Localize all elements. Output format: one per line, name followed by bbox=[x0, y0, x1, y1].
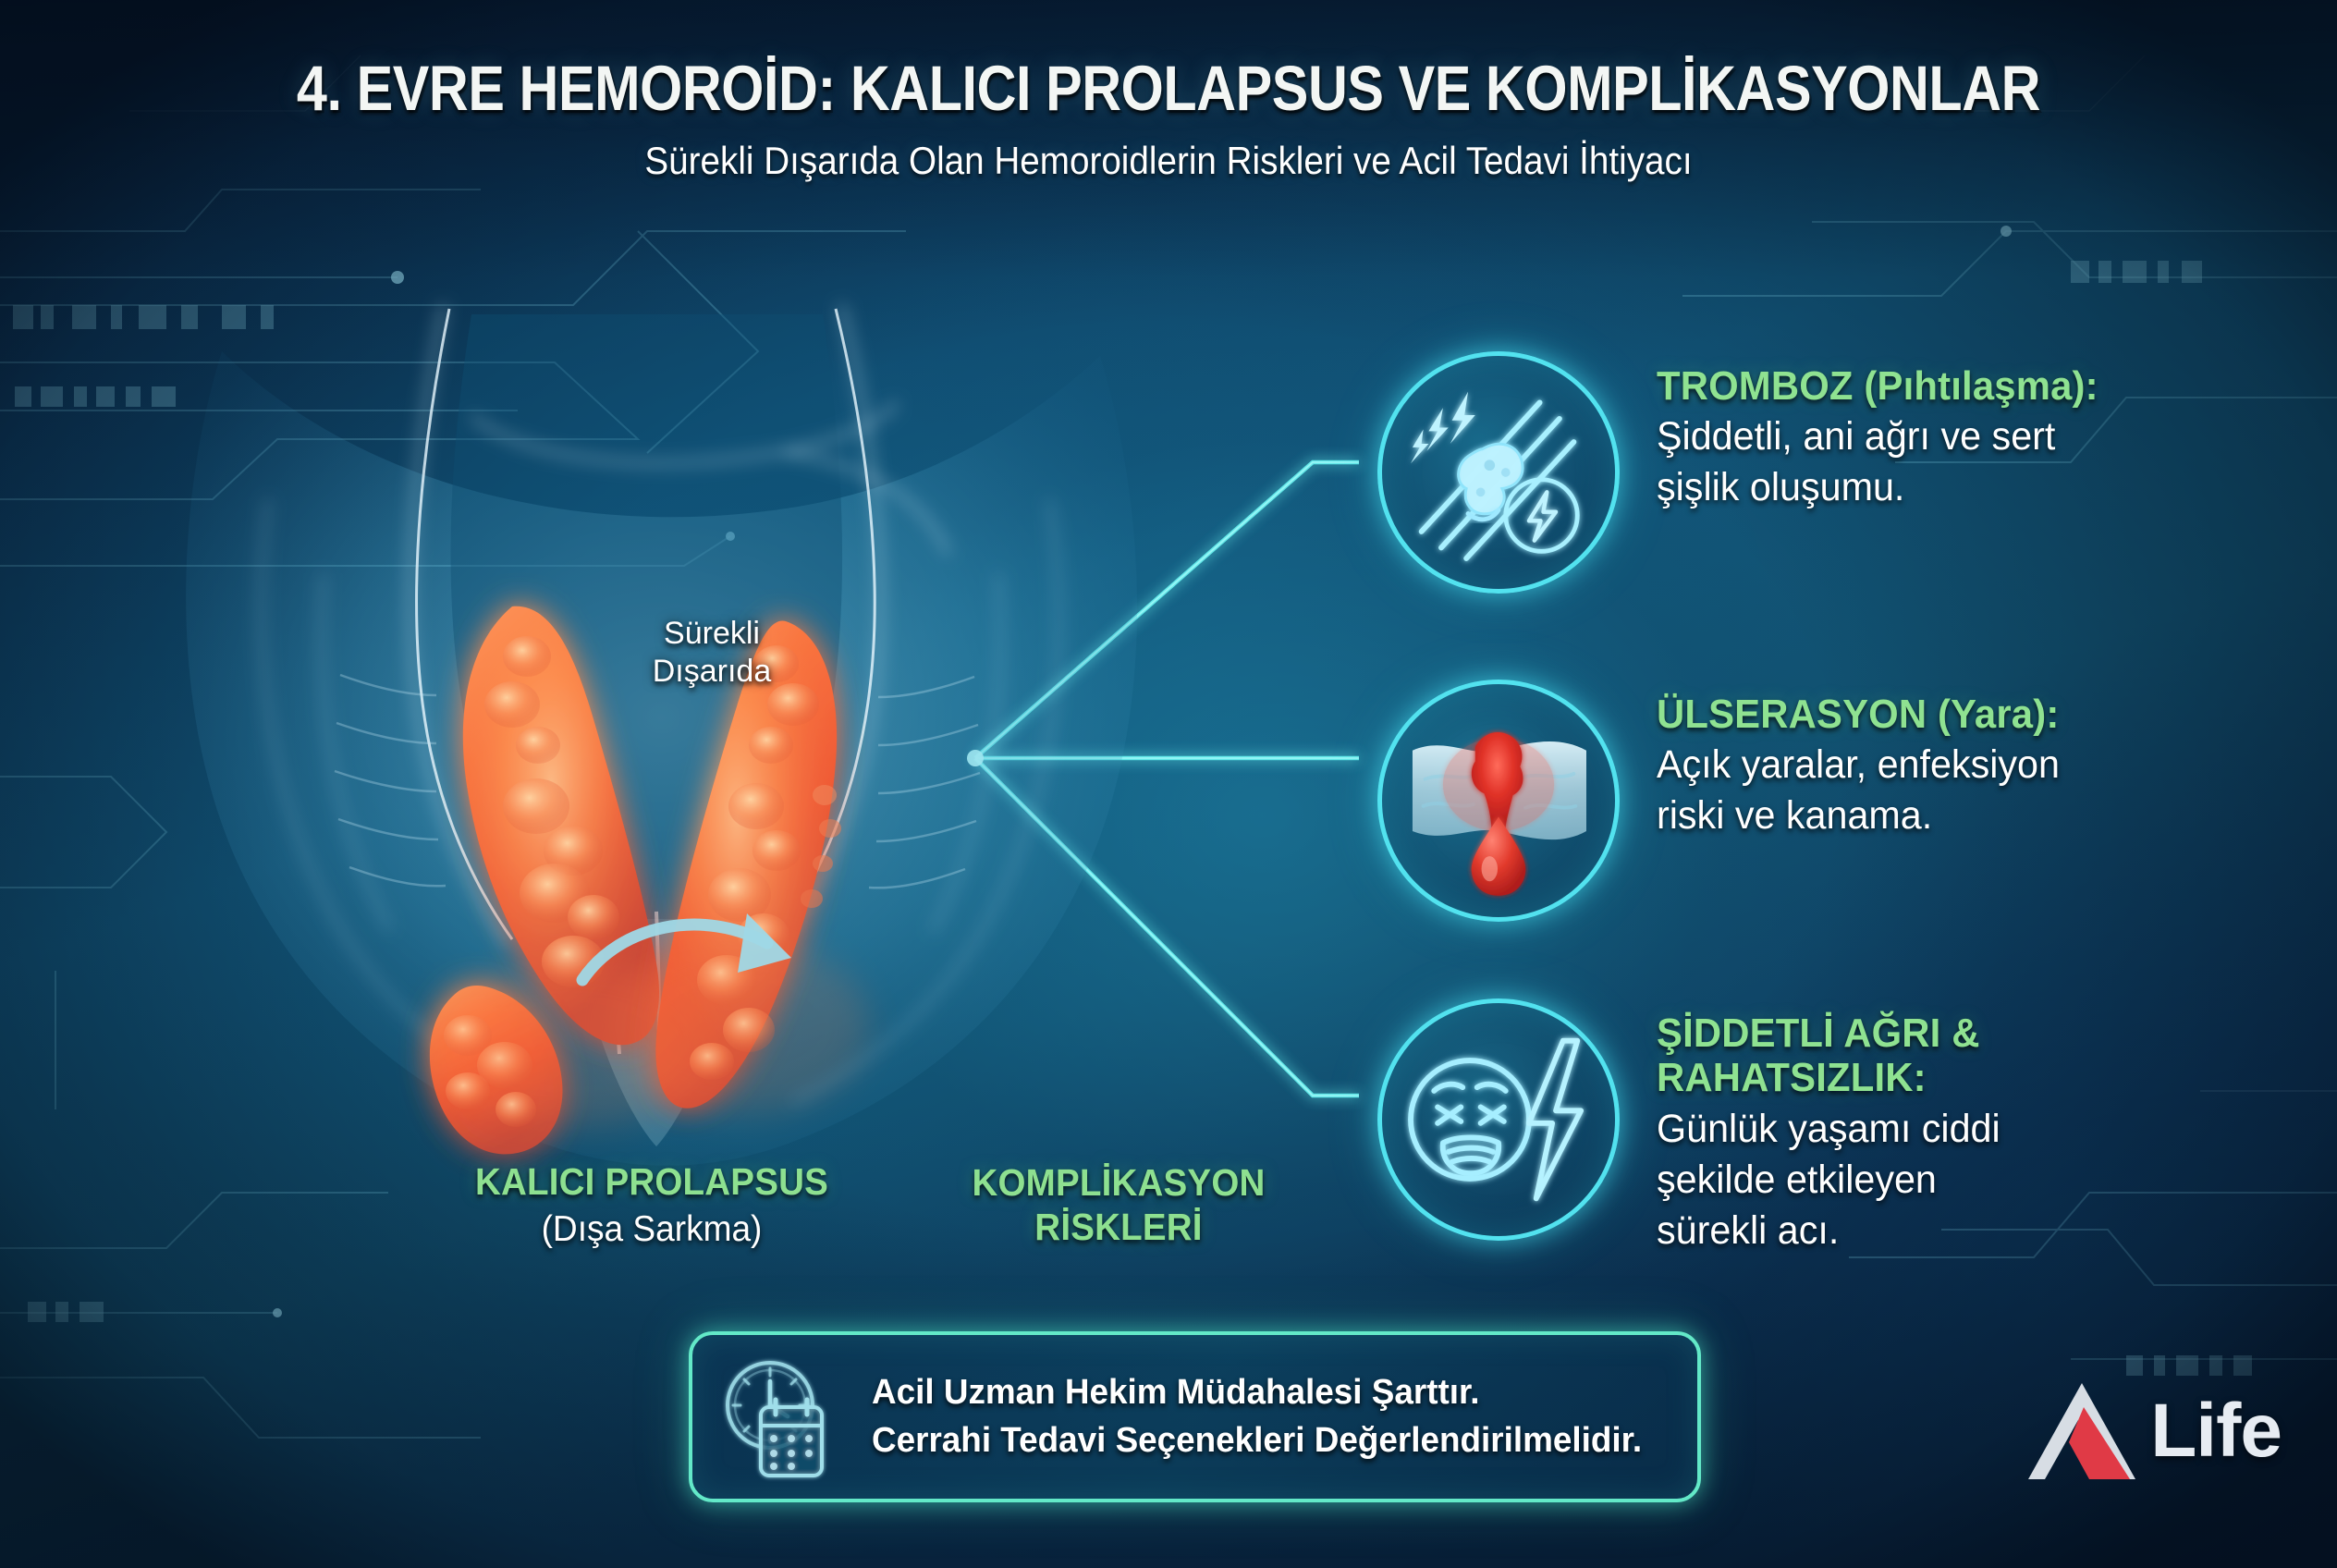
alert-line-1: Acil Uzman Hekim Müdahalesi Şarttır. bbox=[872, 1369, 1642, 1417]
risk-heading-line-1: ŞİDDETLİ AĞRI & bbox=[1657, 1011, 1997, 1056]
anal-canal-anatomy-illustration bbox=[139, 277, 1174, 1211]
severe-pain-grimace-face-bolt-icon bbox=[1377, 998, 1620, 1241]
page-subtitle: Sürekli Dışarıda Olan Hemoroidlerin Risk… bbox=[93, 139, 2244, 183]
risk-heading: TROMBOZ (Pıhtılaşma): bbox=[1657, 364, 2098, 409]
annotation-line-1: Sürekli bbox=[606, 615, 818, 653]
thrombosis-vessel-clot-icon bbox=[1377, 351, 1620, 594]
risk-heading-line-2: RAHATSIZLIK: bbox=[1657, 1056, 1997, 1100]
brand-logo: Life bbox=[2026, 1379, 2282, 1483]
risk-text-tromboz: TROMBOZ (Pıhtılaşma): Şiddetli, ani ağrı… bbox=[1657, 351, 2122, 510]
alert-line-2: Cerrahi Tedavi Seçenekleri Değerlendiril… bbox=[872, 1417, 1642, 1465]
caption-main-line-2: RİSKLERİ bbox=[936, 1205, 1302, 1249]
caption-main: KALICI PROLAPSUS bbox=[447, 1160, 856, 1204]
prolapse-annotation-label: Sürekli Dışarıda bbox=[606, 615, 818, 692]
risk-text-siddetli-agri: ŞİDDETLİ AĞRI & RAHATSIZLIK: Günlük yaşa… bbox=[1657, 998, 2014, 1254]
risk-body-line-1: Açık yaralar, enfeksiyon bbox=[1657, 742, 2063, 788]
annotation-line-2: Dışarıda bbox=[606, 653, 818, 691]
risk-text-ulserasyon: ÜLSERASYON (Yara): Açık yaralar, enfeksi… bbox=[1657, 680, 2080, 839]
alert-text: Acil Uzman Hekim Müdahalesi Şarttır. Cer… bbox=[872, 1369, 1666, 1464]
risk-item-siddetli-agri: ŞİDDETLİ AĞRI & RAHATSIZLIK: Günlük yaşa… bbox=[1377, 998, 2014, 1254]
header: 4. EVRE HEMOROİD: KALICI PROLAPSUS VE KO… bbox=[0, 52, 2337, 183]
urgent-treatment-banner: Acil Uzman Hekim Müdahalesi Şarttır. Cer… bbox=[689, 1331, 1701, 1502]
logo-wordmark: Life bbox=[2150, 1388, 2282, 1475]
caption-sub: (Dışa Sarkma) bbox=[446, 1209, 859, 1250]
risk-body-line-2: şişlik oluşumu. bbox=[1657, 465, 2103, 510]
caption-main-line-1: KOMPLİKASYON bbox=[936, 1160, 1302, 1205]
infographic-canvas: Sürekli Dışarıda 4. EVRE HEMOROİD: KALIC… bbox=[0, 0, 2337, 1568]
clock-calendar-icon bbox=[709, 1348, 866, 1487]
risk-body-line-2: şekilde etkileyen bbox=[1657, 1158, 2001, 1203]
a-triangle-logo-icon bbox=[2026, 1379, 2145, 1483]
risk-item-ulserasyon: ÜLSERASYON (Yara): Açık yaralar, enfeksi… bbox=[1377, 680, 2080, 922]
ulceration-wound-blooddrop-icon bbox=[1377, 680, 1620, 922]
caption-komplikasyon-riskleri: KOMPLİKASYON RİSKLERİ bbox=[924, 1160, 1313, 1250]
risk-body-line-2: riski ve kanama. bbox=[1657, 793, 2063, 839]
risk-heading: ÜLSERASYON (Yara): bbox=[1657, 692, 2059, 737]
risk-body-line-3: sürekli acı. bbox=[1657, 1208, 2001, 1254]
risk-item-tromboz: TROMBOZ (Pıhtılaşma): Şiddetli, ani ağrı… bbox=[1377, 351, 2122, 594]
risk-body-line-1: Günlük yaşamı ciddi bbox=[1657, 1107, 2001, 1152]
page-title: 4. EVRE HEMOROİD: KALICI PROLAPSUS VE KO… bbox=[164, 52, 2173, 125]
caption-kalici-prolapsus: KALICI PROLAPSUS (Dışa Sarkma) bbox=[434, 1160, 869, 1250]
risk-body-line-1: Şiddetli, ani ağrı ve sert bbox=[1657, 414, 2103, 459]
